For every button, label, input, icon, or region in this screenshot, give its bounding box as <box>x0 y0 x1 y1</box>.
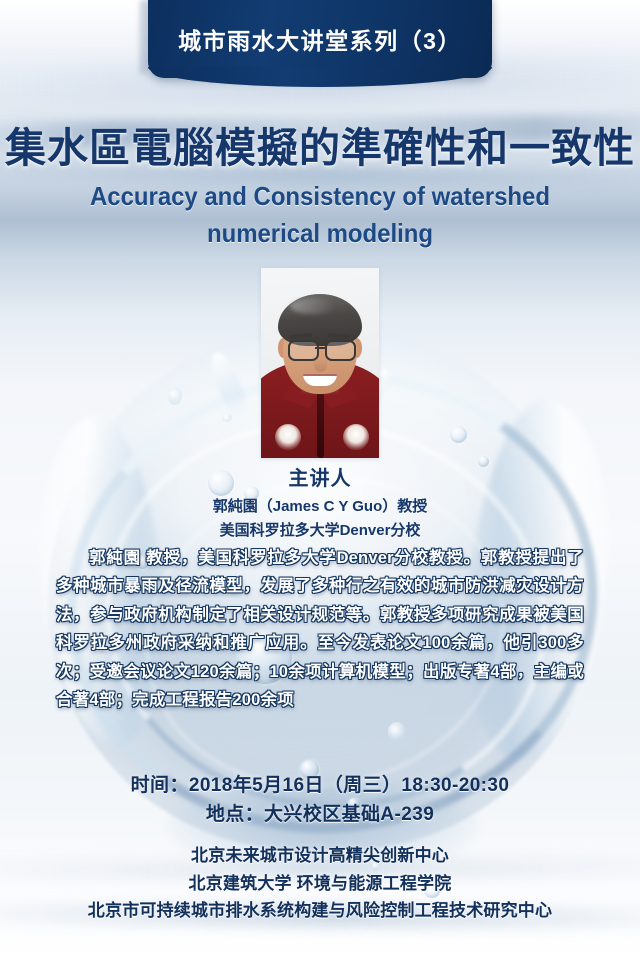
organizer-line-2: 北京建筑大学 环境与能源工程学院 <box>0 870 640 898</box>
speaker-name: 郭純園（James C Y Guo）教授 <box>0 495 640 516</box>
photo-shirt-placket <box>317 386 324 458</box>
speaker-block: 主讲人 郭純園（James C Y Guo）教授 美国科罗拉多大学Denver分… <box>0 462 640 540</box>
page-title-english-line2: numerical modeling <box>26 215 615 252</box>
photo-nose <box>314 358 327 372</box>
speaker-affiliation: 美国科罗拉多大学Denver分校 <box>0 519 640 540</box>
organizer-line-1: 北京未来城市设计高精尖创新中心 <box>0 842 640 870</box>
photo-embroidery-left <box>275 424 301 450</box>
organizer-line-3: 北京市可持续城市排水系统构建与风险控制工程技术研究中心 <box>0 897 640 925</box>
photo-glasses-bridge <box>315 347 325 349</box>
photo-chin <box>301 386 339 396</box>
splash-crest-1 <box>206 348 253 421</box>
speaker-role-label: 主讲人 <box>0 462 640 491</box>
speaker-biography: 郭純園 教授，美国科罗拉多大学Denver分校教授。郭教授提出了多种城市暴雨及径… <box>56 544 584 714</box>
water-drop-1 <box>388 722 406 744</box>
event-details: 时间：2018年5月16日（周三）18:30-20:30 地点：大兴校区基础A-… <box>0 772 640 829</box>
event-time: 时间：2018年5月16日（周三）18:30-20:30 <box>0 772 640 801</box>
speaker-photo <box>261 268 379 458</box>
water-drop-mid <box>222 414 232 422</box>
photo-hair-highlight <box>290 298 336 314</box>
page-title-english: Accuracy and Consistency of watershed nu… <box>26 178 615 252</box>
water-drop-2 <box>168 388 182 405</box>
page-title-english-line1: Accuracy and Consistency of watershed <box>26 178 615 215</box>
bubble-small-3 <box>450 426 467 443</box>
photo-glasses-right-lens <box>325 340 356 361</box>
series-title: 城市雨水大讲堂系列（3） <box>0 22 640 56</box>
page-title-chinese: 集水區電腦模擬的準確性和一致性 <box>0 114 640 174</box>
organizer-list: 北京未来城市设计高精尖创新中心 北京建筑大学 环境与能源工程学院 北京市可持续城… <box>0 842 640 925</box>
event-location: 地点：大兴校区基础A-239 <box>0 801 640 830</box>
photo-embroidery-right <box>343 424 369 450</box>
poster-root: 城市雨水大讲堂系列（3） 集水區電腦模擬的準確性和一致性 Accuracy an… <box>0 0 640 959</box>
